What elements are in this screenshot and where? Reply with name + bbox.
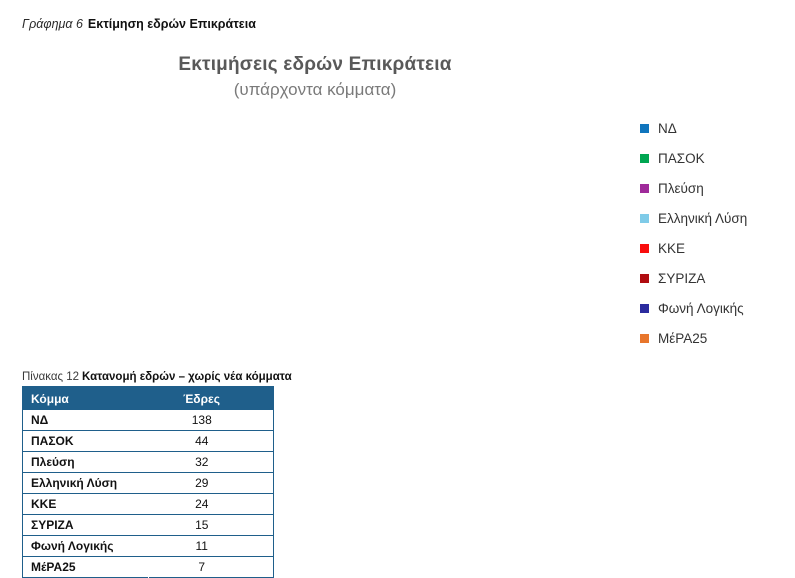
cell-seats: 44: [148, 431, 274, 452]
cell-seats: 7: [148, 557, 274, 578]
table-row: ΣΥΡΙΖΑ15: [23, 515, 274, 536]
table-container: Πίνακας 12Κατανομή εδρών – χωρίς νέα κόμ…: [22, 371, 277, 578]
figure-label: Γράφημα 6: [22, 17, 83, 31]
table-row: Φωνή Λογικής11: [23, 536, 274, 557]
legend-swatch-icon: [640, 184, 649, 193]
legend-item[interactable]: ΜέΡΑ25: [640, 323, 790, 353]
table-row: Πλεύση32: [23, 452, 274, 473]
legend-item-label: ΝΔ: [658, 121, 677, 136]
figure-title: Εκτίμηση εδρών Επικράτεια: [88, 17, 256, 31]
legend-swatch-icon: [640, 304, 649, 313]
cell-seats: 15: [148, 515, 274, 536]
table-label: Πίνακας 12: [22, 371, 79, 383]
legend-item[interactable]: Πλεύση: [640, 173, 790, 203]
chart-container: Εκτιμήσεις εδρών Επικράτεια (υπάρχοντα κ…: [0, 52, 630, 352]
cell-party: ΣΥΡΙΖΑ: [23, 515, 149, 536]
legend-swatch-icon: [640, 214, 649, 223]
table-header-row: Κόμμα Έδρες: [23, 387, 274, 411]
cell-party: Φωνή Λογικής: [23, 536, 149, 557]
legend-item[interactable]: ΚΚΕ: [640, 233, 790, 263]
cell-seats: 11: [148, 536, 274, 557]
table-row: Ελληνική Λύση29: [23, 473, 274, 494]
legend-item-label: ΚΚΕ: [658, 241, 685, 256]
chart-legend: ΝΔΠΑΣΟΚΠλεύσηΕλληνική ΛύσηΚΚΕΣΥΡΙΖΑΦωνή …: [640, 113, 790, 353]
table-body: ΝΔ138ΠΑΣΟΚ44Πλεύση32Ελληνική Λύση29ΚΚΕ24…: [23, 410, 274, 578]
cell-party: ΜέΡΑ25: [23, 557, 149, 578]
legend-item-label: ΠΑΣΟΚ: [658, 151, 705, 166]
table-row: ΜέΡΑ257: [23, 557, 274, 578]
legend-item-label: ΜέΡΑ25: [658, 331, 707, 346]
column-header-seats: Έδρες: [148, 387, 274, 411]
cell-seats: 29: [148, 473, 274, 494]
cell-party: ΝΔ: [23, 410, 149, 431]
cell-party: ΠΑΣΟΚ: [23, 431, 149, 452]
legend-item-label: Πλεύση: [658, 181, 704, 196]
table-row: ΠΑΣΟΚ44: [23, 431, 274, 452]
cell-party: Ελληνική Λύση: [23, 473, 149, 494]
cell-seats: 138: [148, 410, 274, 431]
legend-swatch-icon: [640, 274, 649, 283]
legend-item[interactable]: ΠΑΣΟΚ: [640, 143, 790, 173]
legend-swatch-icon: [640, 244, 649, 253]
chart-subtitle: (υπάρχοντα κόμματα): [0, 78, 630, 102]
cell-party: Πλεύση: [23, 452, 149, 473]
legend-item[interactable]: ΝΔ: [640, 113, 790, 143]
legend-item[interactable]: Ελληνική Λύση: [640, 203, 790, 233]
legend-item-label: Φωνή Λογικής: [658, 301, 744, 316]
table-row: ΚΚΕ24: [23, 494, 274, 515]
cell-seats: 24: [148, 494, 274, 515]
legend-item-label: ΣΥΡΙΖΑ: [658, 271, 705, 286]
figure-caption: Γράφημα 6Εκτίμηση εδρών Επικράτεια: [22, 17, 256, 31]
table-caption: Πίνακας 12Κατανομή εδρών – χωρίς νέα κόμ…: [22, 371, 277, 383]
hemicycle-chart: 1384432292415117: [0, 104, 630, 354]
table-title: Κατανομή εδρών – χωρίς νέα κόμματα: [82, 371, 292, 383]
cell-seats: 32: [148, 452, 274, 473]
legend-item[interactable]: ΣΥΡΙΖΑ: [640, 263, 790, 293]
seats-table: Κόμμα Έδρες ΝΔ138ΠΑΣΟΚ44Πλεύση32Ελληνική…: [22, 386, 274, 578]
legend-swatch-icon: [640, 154, 649, 163]
legend-swatch-icon: [640, 334, 649, 343]
cell-party: ΚΚΕ: [23, 494, 149, 515]
legend-item[interactable]: Φωνή Λογικής: [640, 293, 790, 323]
column-header-party: Κόμμα: [23, 387, 149, 411]
chart-title: Εκτιμήσεις εδρών Επικράτεια: [0, 52, 630, 78]
legend-swatch-icon: [640, 124, 649, 133]
table-row: ΝΔ138: [23, 410, 274, 431]
legend-item-label: Ελληνική Λύση: [658, 211, 747, 226]
